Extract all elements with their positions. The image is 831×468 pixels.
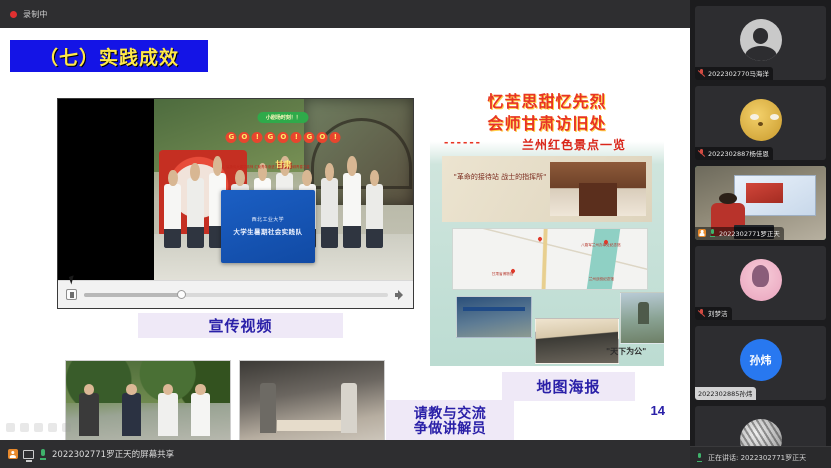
pointer-icon[interactable] (48, 423, 57, 432)
microphone-icon (39, 449, 47, 460)
speaking-label: 正在讲话: 2022302771罗正天 (708, 453, 806, 463)
poster-bottom-text: "天下为公" (606, 346, 646, 357)
slide-title-banner: （七）实践成效 (10, 40, 208, 72)
participant-name-bar: 刘梦洁 (695, 307, 732, 320)
video-progress-knob[interactable] (177, 290, 186, 299)
shared-slide: （七）实践成效 弘扬伟大建党精神 汇聚青年奋进力量 凝聚磅礴青春力量 小剧场时刻… (0, 28, 690, 440)
photo-person (158, 393, 178, 436)
slide-mini-toolbar[interactable] (6, 423, 71, 432)
poster-headline-2: 会师甘肃访旧处 (430, 110, 664, 134)
projection-screen (734, 175, 815, 216)
poster-photo-gate (456, 296, 532, 338)
participant-name-bar: 2022302771罗正天 (695, 227, 784, 240)
banner-school: 西北工业大学 (252, 216, 284, 223)
participant-name: 2022302885孙炜 (698, 388, 752, 398)
poster-quote: "革命的接待站 战士的指挥所" (452, 172, 548, 183)
banner-team: 大学生暑期社会实践队 (233, 226, 302, 236)
video-caption-label: 宣传视频 (208, 315, 272, 336)
video-top-caption: 小剧场时刻！！ (258, 112, 309, 123)
more-icon[interactable] (62, 423, 71, 432)
map-poster: 忆苦思甜忆先烈 会师甘肃访旧处 ------ 兰州红色景点一览 "革命的接待站 … (430, 78, 664, 366)
recording-status-bar: 录制中 (0, 0, 690, 28)
participant-tile[interactable]: 2022302770马海洋 (695, 6, 826, 80)
recording-dot-icon (10, 11, 17, 18)
gogo-letter: O (317, 132, 328, 143)
video-progress-fill (84, 293, 181, 297)
map-label: 甘肃省博物馆 (492, 272, 514, 277)
photo-person (341, 383, 357, 433)
avatar (740, 259, 782, 301)
photo-person (191, 393, 211, 436)
volume-icon[interactable] (395, 290, 405, 300)
host-badge-icon (698, 229, 706, 237)
microphone-muted-icon (698, 309, 705, 317)
participant-tile[interactable]: 刘梦洁 (695, 246, 826, 320)
participant-tile[interactable]: 2022302887杨佳恩 (695, 86, 826, 160)
poster-hero-card: "革命的接待站 战士的指挥所" (442, 156, 652, 222)
poster-photo-hall (535, 318, 619, 364)
screen-share-label: 2022302771罗正天的屏幕共享 (52, 448, 174, 460)
avatar: 孙炜 (740, 339, 782, 381)
participant-name-bar: 2022302885孙炜 (695, 387, 756, 400)
participant-tile[interactable]: 2022302771罗正天 (695, 166, 826, 240)
video-stage: 弘扬伟大建党精神 汇聚青年奋进力量 凝聚磅礴青春力量 小剧场时刻！！ GO!GO… (58, 99, 413, 281)
callout-line-1: 请教与交流 (414, 407, 487, 422)
participant-name: 2022302770马海洋 (708, 68, 769, 78)
avatar (740, 99, 782, 141)
video-person (343, 173, 360, 249)
photo-interview (65, 360, 231, 440)
speaking-status-bar: 正在讲话: 2022302771罗正天 (690, 446, 831, 468)
microphone-muted-icon (698, 149, 705, 157)
poster-headline-1: 忆苦思甜忆先烈 (430, 88, 664, 112)
embedded-video-player[interactable]: 弘扬伟大建党精神 汇聚青年奋进力量 凝聚磅礴青春力量 小剧场时刻！！ GO!GO… (57, 98, 414, 309)
participant-rail[interactable]: 2022302770马海洋2022302887杨佳恩2022302771罗正天刘… (690, 0, 831, 468)
video-person (366, 184, 383, 248)
poster-dashes: ------ (444, 134, 482, 149)
participant-name: 2022302887杨佳恩 (708, 148, 769, 158)
poster-subtitle: 兰州红色景点一览 (522, 136, 626, 153)
participant-name: 刘梦洁 (708, 308, 728, 318)
photo-person (79, 393, 99, 436)
meeting-window: 录制中 （七）实践成效 弘扬伟大建党精神 汇聚青年奋进力量 凝聚磅礴青春力量 小… (0, 0, 831, 468)
eraser-icon[interactable] (34, 423, 43, 432)
photo-person (122, 393, 142, 436)
gogo-letter: ! (252, 132, 263, 143)
host-badge-icon (8, 449, 18, 459)
gogo-letter: G (304, 132, 315, 143)
map-caption-label: 地图海报 (536, 376, 600, 397)
screen-share-status-bar: 2022302771罗正天的屏幕共享 (0, 440, 690, 468)
callout-line-2: 争做讲解员 (414, 422, 487, 437)
microphone-muted-icon (698, 69, 705, 77)
participant-name-bar: 2022302770马海洋 (695, 67, 773, 80)
highlighter-icon[interactable] (20, 423, 29, 432)
participant-name-bar: 2022302887杨佳恩 (695, 147, 773, 160)
poster-map-image: 八路军兰州办事处纪念馆 甘肃省博物馆 兰州战役纪念馆 (452, 228, 648, 290)
video-frame: 弘扬伟大建党精神 汇聚青年奋进力量 凝聚磅礴青春力量 小剧场时刻！！ GO!GO… (154, 99, 413, 281)
video-team-banner: 西北工业大学 大学生暑期社会实践队 (221, 190, 314, 263)
gogo-letter: O (278, 132, 289, 143)
video-person (164, 184, 181, 248)
map-label: 兰州战役纪念馆 (589, 277, 614, 282)
slide-title: （七）实践成效 (39, 43, 179, 70)
slide-page-number: 14 (651, 403, 665, 418)
gogo-letter: O (239, 132, 250, 143)
participant-tile[interactable]: 孙炜2022302885孙炜 (695, 326, 826, 400)
poster-building-photo (550, 162, 646, 216)
recording-label: 录制中 (23, 9, 48, 20)
photo-person (260, 383, 276, 433)
screen-share-icon (23, 450, 34, 459)
microphone-icon (709, 229, 716, 237)
video-gogo-letters: GO!GO!GO! (226, 132, 341, 143)
gogo-letter: G (226, 132, 237, 143)
video-progress-slider[interactable] (84, 293, 388, 297)
avatar (740, 19, 782, 61)
video-caption-chip: 宣传视频 (138, 313, 343, 338)
gogo-letter: ! (330, 132, 341, 143)
map-label: 八路军兰州办事处纪念馆 (581, 243, 621, 248)
gogo-letter: G (265, 132, 276, 143)
poster-photo-statue (620, 292, 664, 344)
practice-callout: 请教与交流 争做讲解员 (386, 400, 514, 440)
pause-button-icon[interactable] (66, 289, 77, 300)
photo-exhibition (239, 360, 385, 440)
video-control-bar[interactable] (58, 280, 413, 308)
pen-icon[interactable] (6, 423, 15, 432)
participant-name: 2022302771罗正天 (719, 228, 780, 238)
gogo-letter: ! (291, 132, 302, 143)
microphone-icon (696, 453, 704, 462)
video-place-label: 甘肃 (275, 159, 291, 170)
map-caption-chip: 地图海报 (502, 372, 635, 401)
